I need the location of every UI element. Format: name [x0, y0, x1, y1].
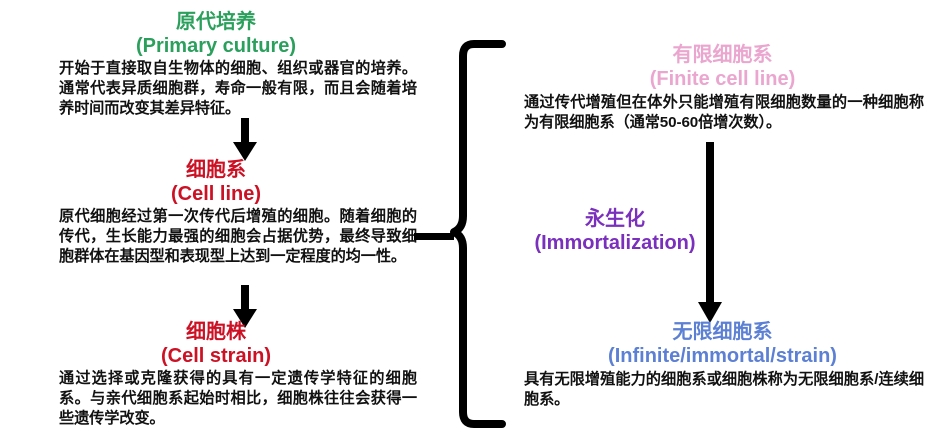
node-primary-culture-body: 开始于直接取自生物体的细胞、组织或器官的培养。通常代表异质细胞群，寿命一般有限，… — [59, 59, 417, 118]
node-immortalization-heading-cn: 永生化 — [500, 209, 730, 230]
node-finite-cell-line-heading-cn: 有限细胞系 — [510, 45, 935, 66]
node-finite-cell-line-body: 通过传代增殖但在体外只能增殖有限细胞数量的一种细胞称为有限细胞系（通常50-60… — [524, 93, 924, 133]
node-cell-strain-heading-en: (Cell strain) — [0, 346, 432, 367]
node-cell-line-body: 原代细胞经过第一次传代后增殖的细胞。随着细胞的传代，生长能力最强的细胞会占据优势… — [59, 207, 417, 266]
node-cell-line-heading-cn: 细胞系 — [0, 160, 432, 181]
node-finite-cell-line-heading-en: (Finite cell line) — [510, 69, 935, 90]
node-cell-strain-heading-cn: 细胞株 — [0, 322, 432, 343]
node-cell-line-heading-en: (Cell line) — [0, 184, 432, 205]
node-cell-strain-body: 通过选择或克隆获得的具有一定遗传学特征的细胞系。与亲代细胞系起始时相比，细胞株往… — [59, 369, 417, 428]
node-primary-culture-heading-cn: 原代培养 — [0, 12, 432, 33]
node-primary-culture-heading-en: (Primary culture) — [0, 36, 432, 57]
node-infinite-cell-line-heading-en: (Infinite/immortal/strain) — [510, 346, 935, 367]
node-infinite-cell-line-heading-cn: 无限细胞系 — [510, 322, 935, 343]
cell-culture-diagram: 原代培养 (Primary culture) 开始于直接取自生物体的细胞、组织或… — [0, 0, 935, 434]
node-infinite-cell-line-body: 具有无限增殖能力的细胞系或细胞株称为无限细胞系/连续细胞系。 — [524, 370, 924, 410]
node-immortalization-heading-en: (Immortalization) — [500, 233, 730, 254]
